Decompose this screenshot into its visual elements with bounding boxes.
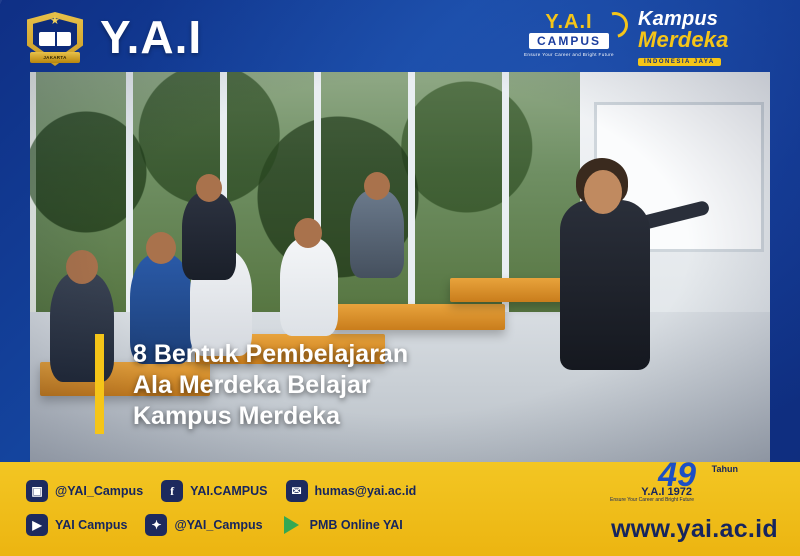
anniversary-badge: 49 Tahun Y.A.I 1972 Ensure Your Career a… <box>602 464 752 504</box>
contact-instagram[interactable]: ▣ @YAI_Campus <box>26 480 143 502</box>
headline-block: 8 Bentuk Pembelajaran Ala Merdeka Belaja… <box>95 330 615 440</box>
yai-campus-logo-tagline: Ensure Your Career and Bright Future <box>514 52 624 57</box>
contact-row-1: ▣ @YAI_Campus f YAI.CAMPUS ✉ humas@yai.a… <box>26 474 496 508</box>
headline-line-2: Ala Merdeka Belajar <box>133 370 615 401</box>
contact-playstore-label: PMB Online YAI <box>310 518 403 532</box>
crest-ribbon-text: JAKARTA <box>30 52 80 63</box>
twitter-icon: ✦ <box>145 514 167 536</box>
contact-email[interactable]: ✉ humas@yai.ac.id <box>286 480 417 502</box>
contact-twitter-label: @YAI_Campus <box>174 518 262 532</box>
facebook-icon: f <box>161 480 183 502</box>
headline-accent-bar <box>95 334 104 434</box>
contact-youtube[interactable]: ▶ YAI Campus <box>26 514 127 536</box>
headline-line-1: 8 Bentuk Pembelajaran <box>133 339 615 370</box>
google-play-icon <box>281 514 303 536</box>
contact-list: ▣ @YAI_Campus f YAI.CAMPUS ✉ humas@yai.a… <box>26 474 496 542</box>
email-icon: ✉ <box>286 480 308 502</box>
contact-facebook[interactable]: f YAI.CAMPUS <box>161 480 267 502</box>
contact-instagram-label: @YAI_Campus <box>55 484 143 498</box>
anniversary-tahun-label: Tahun <box>712 464 738 474</box>
youtube-icon: ▶ <box>26 514 48 536</box>
contact-email-label: humas@yai.ac.id <box>315 484 417 498</box>
anniversary-slogan: Ensure Your Career and Bright Future <box>610 497 694 503</box>
instagram-icon: ▣ <box>26 480 48 502</box>
poster-root: ★ JAKARTA Y.A.I Y.A.I CAMPUS Ensure Your… <box>0 0 800 556</box>
kampus-merdeka-badge: INDONESIA JAYA <box>638 58 721 66</box>
kampus-merdeka-line2: Merdeka <box>638 29 778 50</box>
website-url[interactable]: www.yai.ac.id <box>611 515 778 544</box>
kampus-merdeka-logo: Kampus Merdeka INDONESIA JAYA <box>638 10 778 64</box>
contact-facebook-label: YAI.CAMPUS <box>190 484 267 498</box>
yai-crest-icon: ★ JAKARTA <box>24 8 86 70</box>
contact-row-2: ▶ YAI Campus ✦ @YAI_Campus PMB Online YA… <box>26 508 496 542</box>
yai-campus-logo-pill: CAMPUS <box>529 33 609 49</box>
brand-title: Y.A.I <box>100 12 202 62</box>
contact-youtube-label: YAI Campus <box>55 518 127 532</box>
contact-twitter[interactable]: ✦ @YAI_Campus <box>145 514 262 536</box>
headline-line-3: Kampus Merdeka <box>133 401 615 432</box>
footer: ▣ @YAI_Campus f YAI.CAMPUS ✉ humas@yai.a… <box>0 462 800 556</box>
yai-campus-logo: Y.A.I CAMPUS Ensure Your Career and Brig… <box>514 12 624 62</box>
header: ★ JAKARTA Y.A.I Y.A.I CAMPUS Ensure Your… <box>0 0 800 72</box>
contact-playstore[interactable]: PMB Online YAI <box>281 514 403 536</box>
